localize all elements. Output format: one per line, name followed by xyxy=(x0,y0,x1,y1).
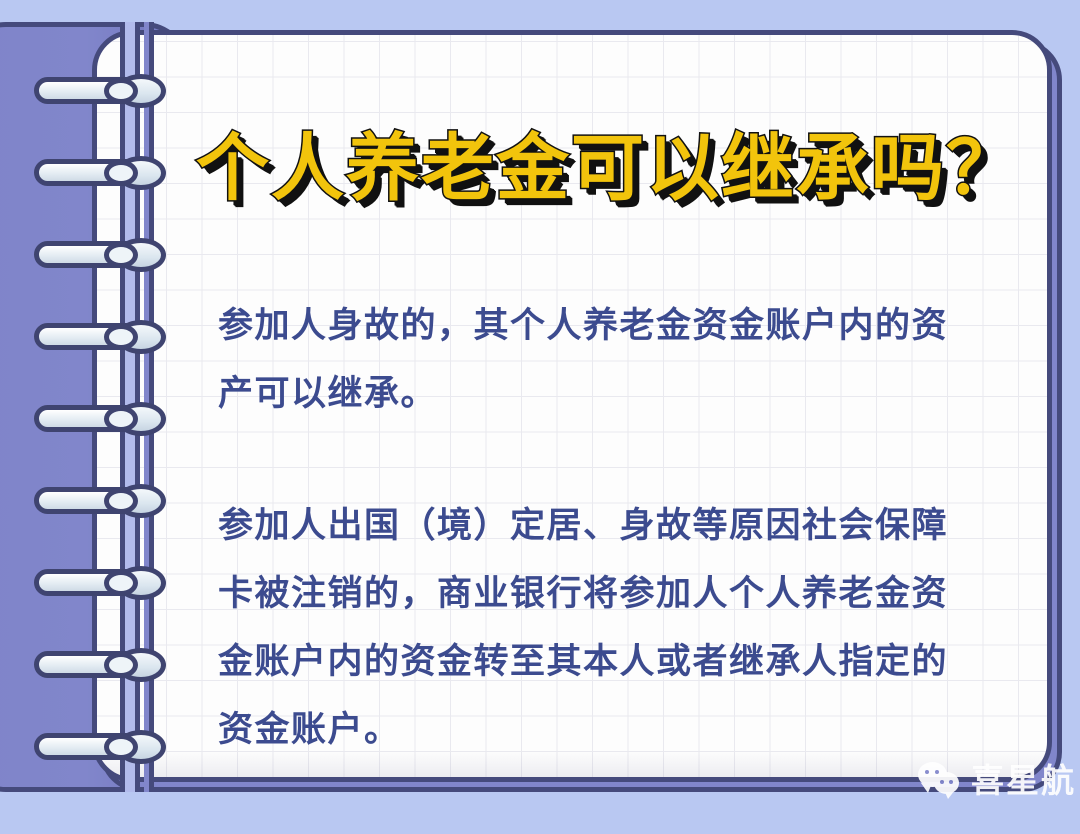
wechat-eye-dot xyxy=(935,770,939,774)
binding-ring-loop-inner xyxy=(104,488,138,514)
binding-ring-loop-inner xyxy=(104,652,138,678)
binding-ring-loop-inner xyxy=(104,406,138,432)
binding-ring-loop-inner xyxy=(104,734,138,760)
binding-ring-loop-inner xyxy=(104,242,138,268)
body-paragraph: 参加人出国（境）定居、身故等原因社会保障卡被注销的，商业银行将参加人个人养老金资… xyxy=(218,492,948,764)
binding-ring xyxy=(34,320,168,354)
wechat-account-name: 喜星航 xyxy=(971,764,1076,797)
binding-ring xyxy=(34,730,168,764)
body-paragraph: 参加人身故的，其个人养老金资金账户内的资产可以继承。 xyxy=(218,292,948,428)
wechat-eye-dot xyxy=(949,780,953,784)
binding-ring xyxy=(34,402,168,436)
poster-body: 参加人身故的，其个人养老金资金账户内的资产可以继承。 参加人出国（境）定居、身故… xyxy=(218,292,948,764)
binding-ring-loop-inner xyxy=(104,78,138,104)
binding-ring xyxy=(34,484,168,518)
wechat-bubble-small xyxy=(934,772,959,794)
wechat-icon xyxy=(918,762,962,798)
poster-title: 个人养老金可以继承吗？ xyxy=(196,132,956,205)
binding-ring xyxy=(34,74,168,108)
binding-ring-loop-inner xyxy=(104,160,138,186)
binding-ring-loop-inner xyxy=(104,324,138,350)
wechat-eye-dot xyxy=(925,770,929,774)
wechat-eye-dot xyxy=(940,780,944,784)
wechat-watermark: 喜星航 xyxy=(918,762,1076,798)
binding-ring-loop-inner xyxy=(104,570,138,596)
binding-ring xyxy=(34,238,168,272)
binding-ring xyxy=(34,566,168,600)
binding-ring xyxy=(34,156,168,190)
binding-ring xyxy=(34,648,168,682)
poster-canvas: 个人养老金可以继承吗？ 参加人身故的，其个人养老金资金账户内的资产可以继承。 参… xyxy=(0,0,1080,834)
